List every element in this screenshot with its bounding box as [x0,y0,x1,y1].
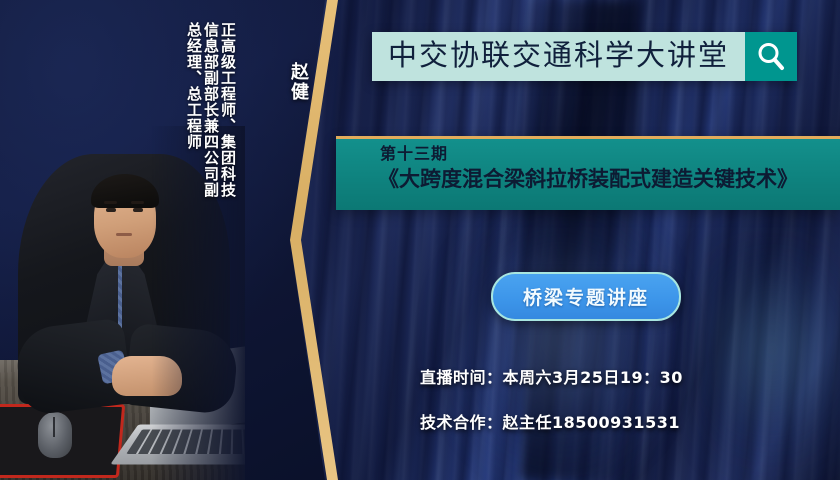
speaker-credentials: 正高级工程师、集团科技 信息部副部长兼四公司副 总经理、总工程师 [186,22,235,198]
topic-badge-label: 桥梁专题讲座 [523,287,649,309]
brand-banner: 中交协联交通科学大讲堂 [372,32,797,81]
live-stream-poster: 正高级工程师、集团科技 信息部副部长兼四公司副 总经理、总工程师 赵健 中交协联… [0,0,840,480]
subtitle-band: 第十三期 《大跨度混合梁斜拉桥装配式建造关键技术》 [336,136,840,210]
issue-number: 第十三期 [380,143,840,165]
background-glow-left [430,190,690,480]
search-button[interactable] [745,32,797,81]
credential-column-3: 总经理、总工程师 [186,22,201,150]
technical-contact: 技术合作：赵主任18500931531 [420,409,680,433]
topic-badge[interactable]: 桥梁专题讲座 [491,272,681,321]
speaker-name: 赵健 [285,62,311,102]
lecture-title: 《大跨度混合梁斜拉桥装配式建造关键技术》 [336,166,840,192]
background-glow-right [700,220,840,480]
brand-banner-text-box: 中交协联交通科学大讲堂 [372,32,745,81]
credential-column-1: 正高级工程师、集团科技 [220,22,235,198]
broadcast-time: 直播时间：本周六3月25日19：30 [420,364,683,388]
search-icon [756,41,786,73]
credential-column-2: 信息部副部长兼四公司副 [203,22,218,198]
brand-banner-title: 中交协联交通科学大讲堂 [388,41,729,70]
